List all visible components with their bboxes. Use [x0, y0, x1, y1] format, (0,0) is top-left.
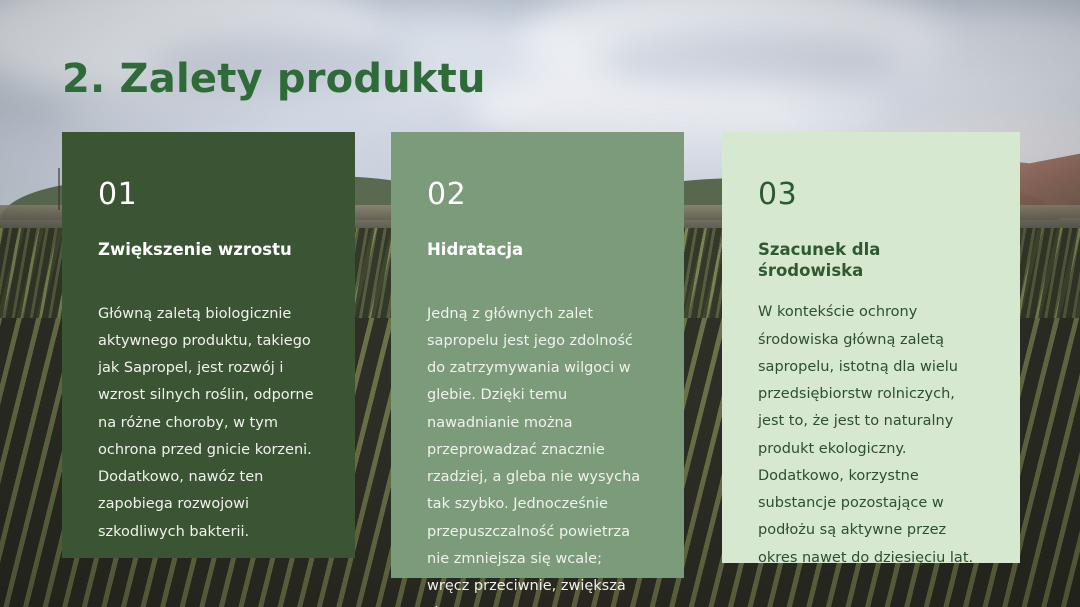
benefit-card-1: 01 Zwiększenie wzrostu Główną zaletą bio…	[62, 132, 355, 558]
card-number: 02	[427, 180, 648, 210]
card-number: 03	[758, 180, 984, 210]
page-title: 2. Zalety produktu	[62, 56, 486, 102]
benefit-card-2: 02 Hidratacja Jedną z głównych zalet sap…	[391, 132, 684, 578]
card-heading: Szacunek dla środowiska	[758, 240, 984, 281]
card-body: W kontekście ochrony środowiska główną z…	[758, 299, 984, 572]
card-body: Główną zaletą biologicznie aktywnego pro…	[98, 301, 319, 546]
card-heading: Zwiększenie wzrostu	[98, 240, 319, 261]
benefit-card-3: 03 Szacunek dla środowiska W kontekście …	[722, 132, 1020, 563]
slide: 2. Zalety produktu 01 Zwiększenie wzrost…	[0, 0, 1080, 607]
card-heading: Hidratacja	[427, 240, 648, 261]
card-number: 01	[98, 180, 319, 210]
card-body: Jedną z głównych zalet sapropelu jest je…	[427, 301, 648, 607]
